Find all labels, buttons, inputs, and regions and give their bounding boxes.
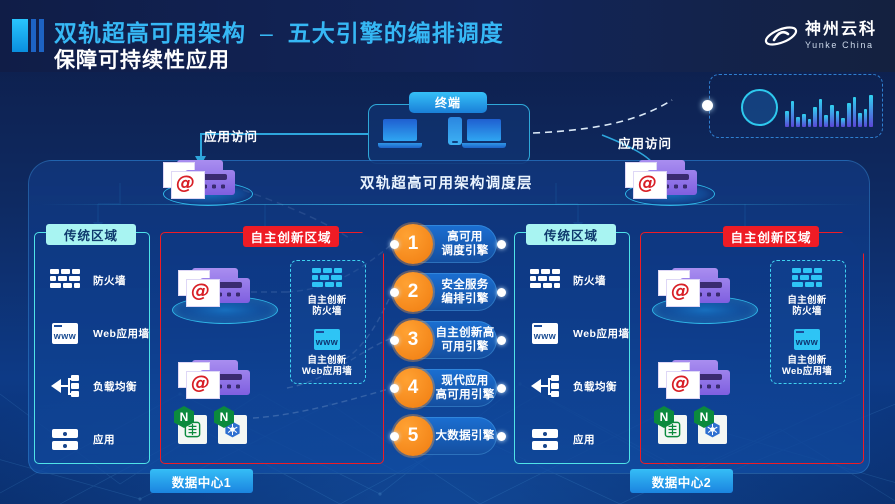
datacenter-label-1: 数据中心1 — [150, 469, 253, 493]
traditional-item-firewall-1[interactable]: 防火墙 — [50, 267, 126, 293]
innovation-zone-label-1: 自主创新区域 — [243, 226, 339, 247]
traditional-item-label: 应用 — [93, 432, 115, 447]
engine-connector-dot-left — [390, 384, 399, 393]
engine-label: 高可用调度引擎 — [433, 225, 497, 263]
bar-chart-bar — [824, 115, 828, 127]
access-label-left: 应用访问 — [204, 126, 258, 145]
terminal-label: 终端 — [409, 92, 487, 113]
laptop-icon-right — [467, 119, 506, 148]
engine-item-2[interactable]: 2安全服务编排引擎 — [395, 273, 497, 311]
engine-number-badge: 2 — [393, 272, 433, 312]
donut-chart-icon — [741, 89, 778, 126]
traditional-item-waf-1[interactable]: wwwWeb应用墙 — [50, 320, 149, 346]
scheduler-divider — [40, 204, 860, 205]
innovation-sub-item-1-1[interactable]: 自主创新防火墙 — [290, 266, 364, 317]
nginx-service-mesh-icon-1[interactable]: N — [174, 406, 208, 444]
traditional-item-app-server-1[interactable]: 应用 — [50, 426, 115, 452]
page-subtitle: 保障可持续性应用 — [54, 44, 230, 74]
innovation-sub-item-2-1[interactable]: 自主创新防火墙 — [770, 266, 844, 317]
bar-chart-bar — [796, 117, 800, 127]
engine-connector-dot-left — [390, 288, 399, 297]
page-title-dash: – — [246, 20, 288, 46]
architecture-diagram: 双轨超高可用架构–五大引擎的编排调度 保障可持续性应用 神州云科 Yunke C… — [0, 0, 895, 504]
header-accent-bar-1 — [12, 19, 28, 52]
waf-icon: www — [50, 320, 80, 346]
bar-chart-icon — [785, 87, 873, 127]
firewall-icon — [530, 267, 560, 293]
bigdata-visualization-box — [709, 74, 883, 138]
bar-chart-bar — [836, 111, 840, 127]
innovation-appliance-top-1[interactable]: @ — [178, 268, 258, 308]
innovation-zone-label-2: 自主创新区域 — [723, 226, 819, 247]
load-balancer-icon — [50, 373, 80, 399]
traditional-zone-label-2: 传统区域 — [526, 224, 616, 245]
logo-text-en: Yunke China — [805, 41, 877, 50]
engine-item-1[interactable]: 1高可用调度引擎 — [395, 225, 497, 263]
engine-connector-dot-right — [497, 336, 506, 345]
engine-item-3[interactable]: 3自主创新高可用引擎 — [395, 321, 497, 359]
traditional-item-label: 应用 — [573, 432, 595, 447]
innovation-sub-item-1-2[interactable]: www自主创新Web应用墙 — [290, 326, 364, 377]
engine-connector-dot-left — [390, 336, 399, 345]
traditional-item-label: 防火墙 — [573, 273, 606, 288]
page-title-part1: 双轨超高可用架构 — [54, 20, 246, 46]
innovation-sub-item-2-2[interactable]: www自主创新Web应用墙 — [770, 326, 844, 377]
datacenter-label-2: 数据中心2 — [630, 469, 733, 493]
bar-chart-bar — [841, 118, 845, 127]
engine-number-badge: 5 — [393, 416, 433, 456]
engine-connector-dot-left — [390, 432, 399, 441]
nginx-kubernetes-icon-1[interactable]: N — [214, 406, 248, 444]
bar-chart-bar — [869, 95, 873, 127]
traditional-item-app-server-2[interactable]: 应用 — [530, 426, 595, 452]
traditional-item-label: Web应用墙 — [573, 326, 629, 341]
swirl-logo-icon — [764, 23, 798, 49]
innovation-sub-item-caption: 自主创新Web应用墙 — [770, 355, 844, 377]
firewall-icon — [792, 266, 822, 292]
traditional-item-label: 负载均衡 — [93, 379, 137, 394]
engine-connector-dot-right — [497, 240, 506, 249]
bar-chart-bar — [808, 119, 812, 127]
traditional-item-waf-2[interactable]: wwwWeb应用墙 — [530, 320, 629, 346]
traditional-item-label: 负载均衡 — [573, 379, 617, 394]
bar-chart-bar — [853, 97, 857, 127]
engine-item-4[interactable]: 4现代应用高可用引擎 — [395, 369, 497, 407]
traditional-item-label: 防火墙 — [93, 273, 126, 288]
traditional-item-label: Web应用墙 — [93, 326, 149, 341]
logo-text-cn: 神州云科 — [805, 22, 877, 38]
page-title-part2: 五大引擎的编排调度 — [288, 20, 504, 46]
scheduler-appliance-right: @ — [625, 160, 705, 200]
traditional-item-load-balancer-1[interactable]: 负载均衡 — [50, 373, 137, 399]
access-label-right: 应用访问 — [618, 133, 672, 152]
engine-connector-dot-left — [390, 240, 399, 249]
load-balancer-icon — [530, 373, 560, 399]
innovation-appliance-bottom-2[interactable]: @ — [658, 360, 738, 400]
waf-icon: www — [312, 326, 342, 352]
bar-chart-bar — [864, 109, 868, 127]
engine-number-badge: 4 — [393, 368, 433, 408]
innovation-sub-item-caption: 自主创新Web应用墙 — [290, 355, 364, 377]
engine-label: 安全服务编排引擎 — [433, 273, 497, 311]
bar-chart-bar — [791, 101, 795, 127]
traditional-item-firewall-2[interactable]: 防火墙 — [530, 267, 606, 293]
access-line-left-vertical — [200, 133, 202, 159]
nginx-kubernetes-icon-2[interactable]: N — [694, 406, 728, 444]
engine-connector-dot-right — [497, 384, 506, 393]
firewall-icon — [312, 266, 342, 292]
nginx-service-mesh-icon-2[interactable]: N — [654, 406, 688, 444]
engine-label: 现代应用高可用引擎 — [433, 369, 497, 407]
header-accent-bar-2 — [31, 19, 36, 52]
innovation-appliance-bottom-1[interactable]: @ — [178, 360, 258, 400]
scheduler-title: 双轨超高可用架构调度层 — [360, 172, 533, 193]
app-server-icon — [530, 426, 560, 452]
innovation-appliance-top-2[interactable]: @ — [658, 268, 738, 308]
engine-label: 自主创新高可用引擎 — [433, 321, 497, 359]
innovation-sub-item-caption: 自主创新防火墙 — [770, 295, 844, 317]
page-title: 双轨超高可用架构–五大引擎的编排调度 — [54, 14, 504, 48]
laptop-icon-left — [383, 119, 422, 148]
header-accent-bar-3 — [39, 19, 44, 52]
bar-chart-bar — [802, 114, 806, 127]
engine-number-badge: 3 — [393, 320, 433, 360]
engine-connector-dot-right — [497, 288, 506, 297]
bar-chart-bar — [785, 111, 789, 127]
engine-item-5[interactable]: 5大数据引擎 — [395, 417, 497, 455]
bar-chart-bar — [858, 113, 862, 127]
company-logo: 神州云科 Yunke China — [764, 22, 877, 50]
firewall-icon — [50, 267, 80, 293]
waf-icon: www — [792, 326, 822, 352]
engine-connector-dot-right — [497, 432, 506, 441]
bigdata-connector-dot — [702, 100, 713, 111]
traditional-item-load-balancer-2[interactable]: 负载均衡 — [530, 373, 617, 399]
scheduler-appliance-left: @ — [163, 160, 243, 200]
bar-chart-bar — [830, 105, 834, 127]
bar-chart-bar — [819, 99, 823, 127]
bar-chart-bar — [813, 107, 817, 127]
engine-number-badge: 1 — [393, 224, 433, 264]
bar-chart-bar — [847, 103, 851, 127]
waf-icon: www — [530, 320, 560, 346]
page-header: 双轨超高可用架构–五大引擎的编排调度 保障可持续性应用 神州云科 Yunke C… — [0, 0, 895, 72]
app-server-icon — [50, 426, 80, 452]
traditional-zone-label-1: 传统区域 — [46, 224, 136, 245]
engine-label: 大数据引擎 — [433, 417, 497, 455]
innovation-sub-item-caption: 自主创新防火墙 — [290, 295, 364, 317]
phone-icon — [448, 117, 462, 145]
